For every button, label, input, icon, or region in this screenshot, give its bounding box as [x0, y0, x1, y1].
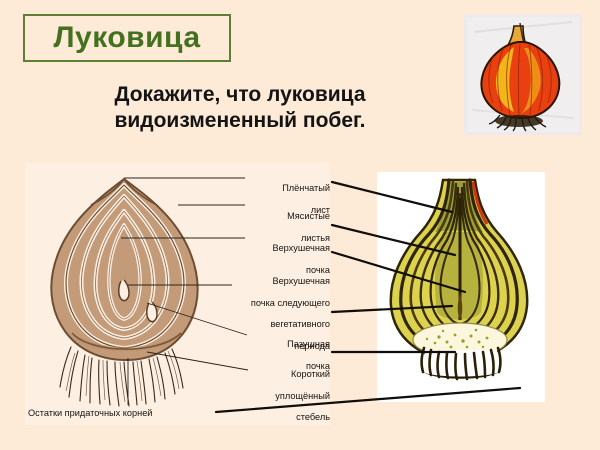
label-line: стебель — [238, 412, 330, 423]
subtitle-line-2: видоизмененный побег. — [40, 108, 440, 134]
onion-section-illustration — [377, 172, 545, 402]
slide-canvas: Луковица Докажите, что луковица видоизме… — [0, 0, 600, 450]
label-korotkiy-uploshchennyi-stebel: Короткий уплощённый стебель — [238, 358, 330, 434]
label-line: почка следующего — [222, 298, 330, 309]
label-ostatki-pridatochnyh-korney: Остатки придаточных корней — [28, 408, 152, 419]
whole-onion-illustration — [464, 14, 582, 135]
subtitle-line-1: Докажите, что луковица — [40, 82, 440, 108]
page-title: Луковица — [53, 23, 200, 53]
onion-longitudinal-section-photo — [377, 172, 545, 402]
label-line: Верхушечная — [222, 276, 330, 287]
whole-onion-photo — [464, 14, 582, 135]
label-line: Плёнчатый — [246, 183, 330, 194]
label-line: Короткий — [238, 369, 330, 380]
label-line: уплощённый — [238, 391, 330, 402]
title-box: Луковица — [23, 14, 231, 62]
label-line: Мясистые — [246, 211, 330, 222]
label-line: Пазушная — [244, 339, 330, 350]
label-line: Верхушечная — [240, 243, 330, 254]
subtitle-text: Докажите, что луковица видоизмененный по… — [40, 82, 440, 133]
label-line: Остатки придаточных корней — [28, 408, 152, 418]
